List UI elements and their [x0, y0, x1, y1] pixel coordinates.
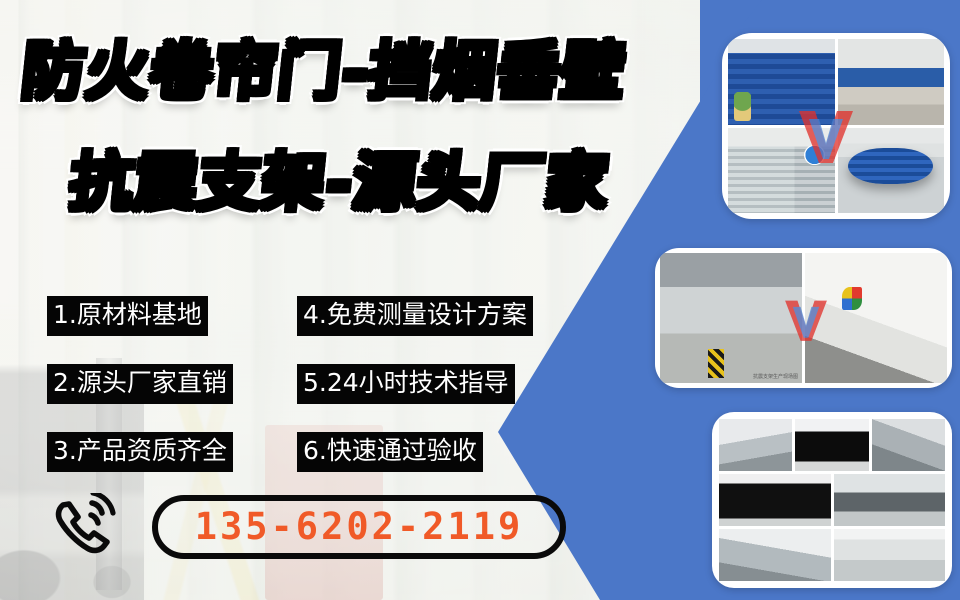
photo-blue-shutter-door [728, 39, 835, 125]
photo-production-line [838, 39, 945, 125]
photo-parking-garage: 抗震支架生产现场图 [660, 253, 802, 383]
project-site-collage: 抗震支架生产现场图 [655, 248, 952, 388]
photo-pipe-seismic-brace [719, 419, 792, 471]
feature-item: 4.免费测量设计方案 [297, 296, 533, 336]
headline-line-1: 防火卷帘门-挡烟垂壁 [18, 36, 629, 108]
seismic-bracket-collage [712, 412, 952, 588]
photo-fire-pipe-support [719, 474, 831, 526]
photo-shutter-coil [838, 128, 945, 214]
photo-caption-watermark: 抗震支架生产现场图 [753, 373, 798, 380]
photo-corridor-shutter [728, 128, 835, 214]
phone-number-box[interactable]: 135-6202-2119 [152, 495, 566, 559]
headline-line-2-text: 抗震支架-源头厂家 [66, 147, 613, 219]
photo-indoor-ceiling [805, 253, 947, 383]
feature-item: 6.快速通过验收 [297, 432, 483, 472]
photo-duct-seismic-brace [795, 419, 868, 471]
feature-item: 5.24小时技术指导 [297, 364, 515, 404]
fire-shutter-door-collage [722, 33, 950, 219]
feature-item: 2.源头厂家直销 [47, 364, 233, 404]
headline-line-1-text: 防火卷帘门-挡烟垂壁 [18, 36, 629, 108]
headline-line-2: 抗震支架-源头厂家 [66, 147, 613, 219]
feature-list: 1.原材料基地 4.免费测量设计方案 2.源头厂家直销 5.24小时技术指导 3… [47, 296, 567, 472]
feature-item: 1.原材料基地 [47, 296, 208, 336]
feature-item: 3.产品资质齐全 [47, 432, 233, 472]
photo-ceiling-fan-support [834, 474, 946, 526]
photo-lateral-brace [719, 529, 831, 581]
advertisement-banner: 防火卷帘门-挡烟垂壁 抗震支架-源头厂家 1.原材料基地 4.免费测量设计方案 … [0, 0, 960, 600]
phone-number-text: 135-6202-2119 [195, 507, 524, 547]
photo-pipe-clamp-assembly [872, 419, 945, 471]
phone-ringing-icon [46, 493, 124, 565]
photo-portal-frame-brace [834, 529, 946, 581]
